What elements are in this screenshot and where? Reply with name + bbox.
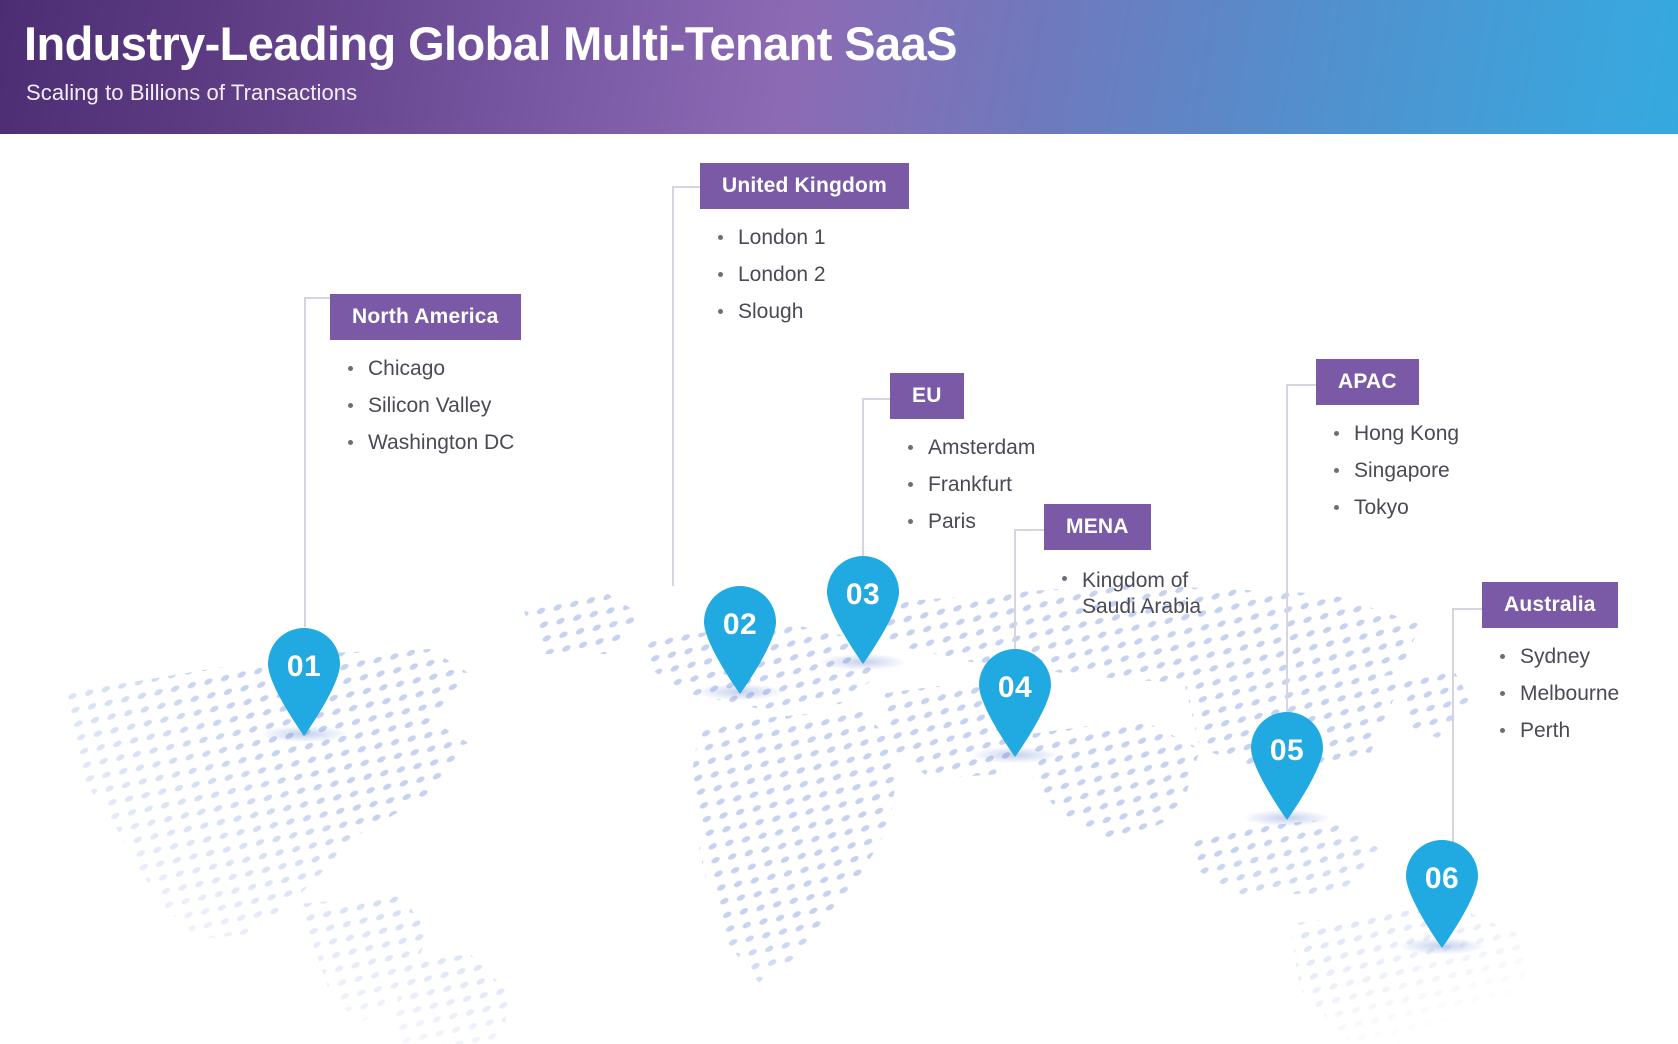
- region-badge-united-kingdom[interactable]: United Kingdom: [700, 163, 909, 209]
- connector-horizontal-eu: [862, 398, 890, 400]
- bullet-icon: [1062, 576, 1067, 581]
- connector-horizontal-north-america: [304, 297, 332, 299]
- bullet-icon: [348, 366, 353, 371]
- bullet-icon: [1334, 431, 1339, 436]
- map-pin-03[interactable]: 03: [823, 552, 903, 670]
- list-item-label: Frankfurt: [928, 473, 1012, 496]
- list-item: London 1: [716, 227, 909, 248]
- list-item: Washington DC: [346, 432, 521, 453]
- map-pin-02[interactable]: 02: [700, 582, 780, 700]
- list-item-label: Kingdom of Saudi Arabia: [1082, 569, 1201, 618]
- bullet-icon: [908, 482, 913, 487]
- map-pin-label-01: 01: [264, 650, 344, 684]
- map-pin-06[interactable]: 06: [1402, 836, 1482, 954]
- connector-horizontal-united-kingdom: [672, 186, 702, 188]
- map-pin-label-04: 04: [975, 671, 1055, 705]
- connector-vertical-mena: [1014, 529, 1016, 663]
- map-pin-05[interactable]: 05: [1247, 708, 1327, 826]
- list-item-label: Tokyo: [1354, 496, 1409, 519]
- region-list-apac: Hong Kong Singapore Tokyo: [1332, 423, 1459, 518]
- region-block-north-america: North America Chicago Silicon Valley Was…: [330, 294, 521, 469]
- region-block-eu: EU Amsterdam Frankfurt Paris: [890, 373, 1035, 548]
- bullet-icon: [908, 519, 913, 524]
- slide-root: Industry-Leading Global Multi-Tenant Saa…: [0, 0, 1678, 1044]
- list-item: Perth: [1498, 720, 1619, 741]
- connector-vertical-australia: [1452, 608, 1454, 860]
- region-list-australia: Sydney Melbourne Perth: [1498, 646, 1619, 741]
- list-item: Singapore: [1332, 460, 1459, 481]
- list-item-label: Slough: [738, 300, 803, 323]
- region-list-united-kingdom: London 1 London 2 Slough: [716, 227, 909, 322]
- region-badge-mena[interactable]: MENA: [1044, 504, 1151, 550]
- list-item-label: Singapore: [1354, 459, 1450, 482]
- connector-vertical-apac: [1286, 384, 1288, 714]
- list-item-label: Hong Kong: [1354, 422, 1459, 445]
- list-item: Amsterdam: [906, 437, 1035, 458]
- connector-horizontal-australia: [1452, 608, 1482, 610]
- list-item: Silicon Valley: [346, 395, 521, 416]
- region-badge-eu[interactable]: EU: [890, 373, 964, 419]
- list-item: London 2: [716, 264, 909, 285]
- slide-header: Industry-Leading Global Multi-Tenant Saa…: [0, 0, 1678, 134]
- list-item-label: Washington DC: [368, 431, 514, 454]
- region-list-mena: Kingdom of Saudi Arabia: [1060, 568, 1201, 619]
- bullet-icon: [908, 445, 913, 450]
- bullet-icon: [1500, 654, 1505, 659]
- map-pin-04[interactable]: 04: [975, 645, 1055, 763]
- bullet-icon: [1500, 691, 1505, 696]
- connector-vertical-united-kingdom: [672, 186, 674, 586]
- region-block-mena: MENA Kingdom of Saudi Arabia: [1044, 504, 1201, 635]
- map-pin-01[interactable]: 01: [264, 624, 344, 742]
- connector-vertical-eu: [862, 398, 864, 558]
- list-item: Chicago: [346, 358, 521, 379]
- list-item-label: Silicon Valley: [368, 394, 491, 417]
- region-badge-australia[interactable]: Australia: [1482, 582, 1618, 628]
- connector-horizontal-apac: [1286, 384, 1316, 386]
- list-item-label: London 1: [738, 226, 826, 249]
- list-item-label: Sydney: [1520, 645, 1590, 668]
- list-item-label: Chicago: [368, 357, 445, 380]
- list-item-label: London 2: [738, 263, 826, 286]
- region-list-eu: Amsterdam Frankfurt Paris: [906, 437, 1035, 532]
- list-item-label: Paris: [928, 510, 976, 533]
- list-item: Tokyo: [1332, 497, 1459, 518]
- list-item: Frankfurt: [906, 474, 1035, 495]
- list-item: Paris: [906, 511, 1035, 532]
- list-item-label: Perth: [1520, 719, 1570, 742]
- map-pin-label-05: 05: [1247, 734, 1327, 768]
- region-block-apac: APAC Hong Kong Singapore Tokyo: [1316, 359, 1459, 534]
- connector-vertical-north-america: [304, 297, 306, 627]
- bullet-icon: [718, 235, 723, 240]
- region-block-australia: Australia Sydney Melbourne Perth: [1482, 582, 1619, 757]
- bullet-icon: [1334, 468, 1339, 473]
- bullet-icon: [718, 272, 723, 277]
- map-pin-label-02: 02: [700, 608, 780, 642]
- region-list-north-america: Chicago Silicon Valley Washington DC: [346, 358, 521, 453]
- bullet-icon: [348, 440, 353, 445]
- region-badge-apac[interactable]: APAC: [1316, 359, 1419, 405]
- list-item: Slough: [716, 301, 909, 322]
- page-title: Industry-Leading Global Multi-Tenant Saa…: [24, 16, 957, 71]
- list-item: Hong Kong: [1332, 423, 1459, 444]
- list-item: Melbourne: [1498, 683, 1619, 704]
- region-block-united-kingdom: United Kingdom London 1 London 2 Slough: [700, 163, 909, 338]
- list-item-label: Amsterdam: [928, 436, 1035, 459]
- page-subtitle: Scaling to Billions of Transactions: [26, 80, 357, 106]
- map-pin-label-06: 06: [1402, 862, 1482, 896]
- region-badge-north-america[interactable]: North America: [330, 294, 521, 340]
- bullet-icon: [348, 403, 353, 408]
- bullet-icon: [718, 309, 723, 314]
- bullet-icon: [1500, 728, 1505, 733]
- list-item: Kingdom of Saudi Arabia: [1060, 568, 1201, 619]
- list-item-label: Melbourne: [1520, 682, 1619, 705]
- list-item: Sydney: [1498, 646, 1619, 667]
- bullet-icon: [1334, 505, 1339, 510]
- map-pin-label-03: 03: [823, 578, 903, 612]
